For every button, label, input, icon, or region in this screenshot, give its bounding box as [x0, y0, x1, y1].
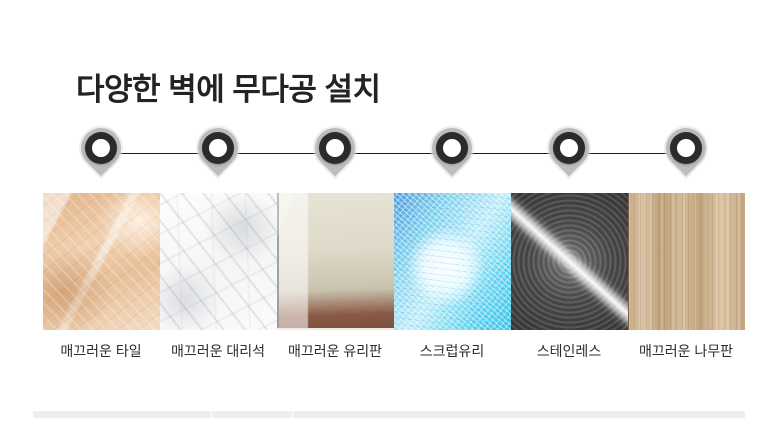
map-pin-icon: [79, 128, 123, 186]
map-pin-hole: [92, 139, 110, 157]
smooth-glass-panel-texture: [277, 193, 394, 330]
map-pin-icon: [430, 128, 474, 186]
map-pin-hole: [560, 139, 578, 157]
page-title: 다양한 벽에 무다공 설치: [76, 71, 381, 110]
footer-strip: [33, 411, 745, 418]
footer-divider: [211, 411, 212, 418]
material-thumbnail: [160, 193, 277, 330]
material-thumbnail: [43, 193, 160, 330]
material-caption-row: 매끄러운 타일매끄러운 대리석매끄러운 유리판스크럽유리스테인레스매끄러운 나무…: [0, 340, 780, 366]
smooth-wood-panel-texture: [628, 193, 745, 330]
smooth-marble-texture: [160, 193, 277, 330]
material-thumbnail: [277, 193, 394, 330]
map-pin-hole: [326, 139, 344, 157]
map-pin-icon: [664, 128, 708, 186]
material-timeline: [0, 128, 780, 190]
timeline-track: [101, 153, 686, 154]
stainless-steel-texture: [511, 193, 628, 330]
material-caption: 매끄러운 나무판: [611, 340, 761, 362]
map-pin-icon: [196, 128, 240, 186]
material-thumbnail-row: [0, 193, 780, 330]
map-pin-hole: [677, 139, 695, 157]
map-pin-icon: [313, 128, 357, 186]
scrub-glass-texture: [394, 193, 511, 330]
map-pin-icon: [547, 128, 591, 186]
wall-materials-panel: 다양한 벽에 무다공 설치 매끄러운 타일매끄러운 대리석매끄러운 유리판스크럽…: [0, 0, 780, 424]
map-pin-hole: [209, 139, 227, 157]
footer-divider: [292, 411, 293, 418]
smooth-tile-texture: [43, 193, 160, 330]
material-thumbnail: [511, 193, 628, 330]
material-thumbnail: [394, 193, 511, 330]
material-thumbnail: [628, 193, 745, 330]
map-pin-hole: [443, 139, 461, 157]
